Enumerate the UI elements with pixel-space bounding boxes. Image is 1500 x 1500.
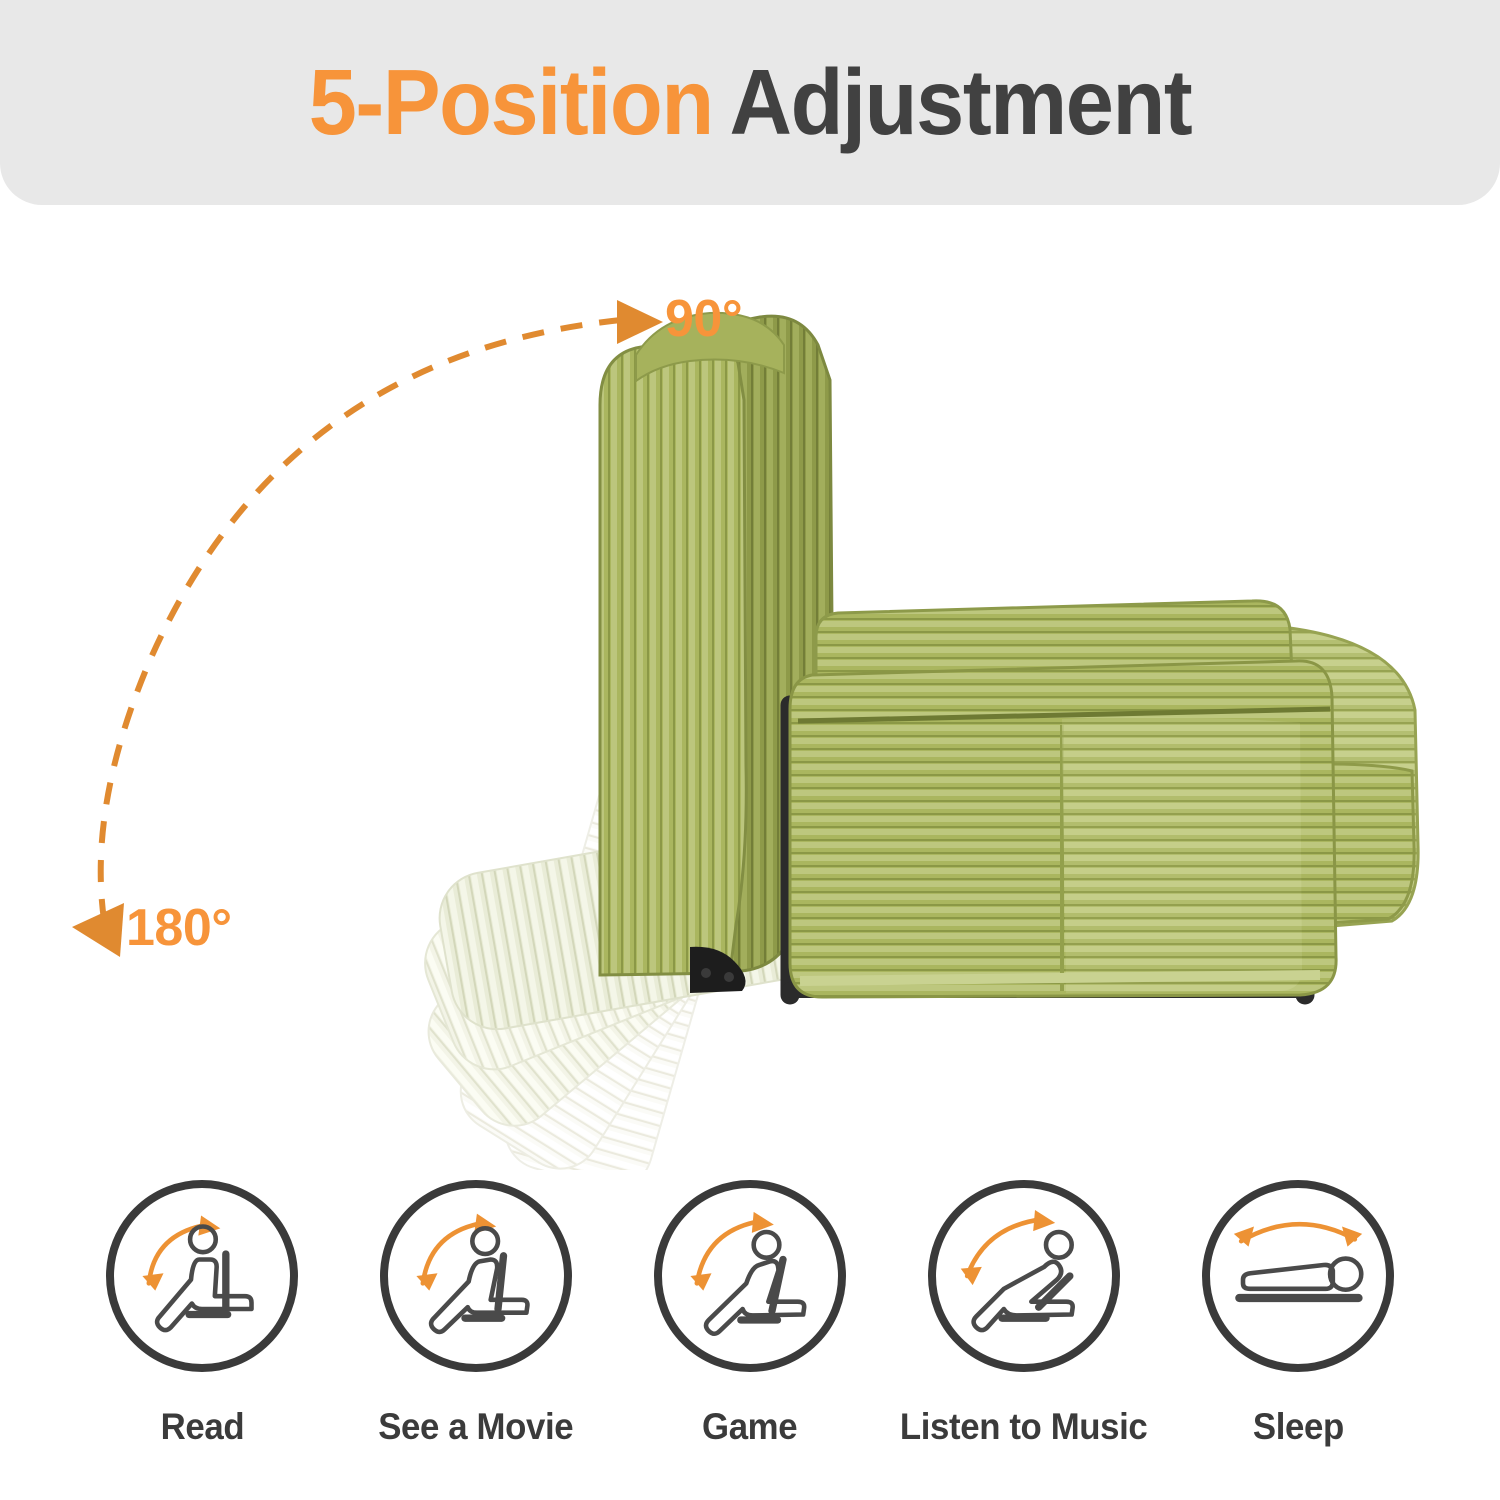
product-hero: 90° 180° xyxy=(0,205,1500,1170)
recline-arc xyxy=(101,320,621,920)
feature-item-game[interactable]: Game xyxy=(613,1180,887,1448)
feature-item-listen-to-music[interactable]: Listen to Music xyxy=(887,1180,1161,1448)
header-band: 5-Position Adjustment xyxy=(0,0,1500,205)
feature-item-see-a-movie[interactable]: See a Movie xyxy=(339,1180,613,1448)
feature-label-sleep: Sleep xyxy=(1253,1406,1344,1448)
product-seat-cushion xyxy=(790,661,1336,997)
recline-game-icon xyxy=(654,1180,846,1372)
feature-item-sleep[interactable]: Sleep xyxy=(1161,1180,1435,1448)
arrow-180-icon xyxy=(72,903,124,957)
recline-sleep-icon xyxy=(1202,1180,1394,1372)
feature-label-read: Read xyxy=(160,1406,244,1448)
feature-item-read[interactable]: Read xyxy=(65,1180,339,1448)
angle-label-90: 90° xyxy=(665,289,742,349)
page-title: 5-Position Adjustment xyxy=(53,0,1448,205)
feature-label-listen-to-music: Listen to Music xyxy=(900,1406,1148,1448)
page-title-accent: 5-Position xyxy=(309,49,713,156)
page-title-rest: Adjustment xyxy=(730,49,1192,156)
feature-label-game: Game xyxy=(702,1406,797,1448)
angle-label-180: 180° xyxy=(126,898,232,958)
feature-label-see-a-movie: See a Movie xyxy=(379,1406,574,1448)
product-illustration xyxy=(0,205,1500,1170)
recline-read-icon xyxy=(106,1180,298,1372)
recline-music-icon xyxy=(928,1180,1120,1372)
recline-movie-icon xyxy=(380,1180,572,1372)
position-feature-row: Read See a Movie xyxy=(0,1180,1500,1500)
